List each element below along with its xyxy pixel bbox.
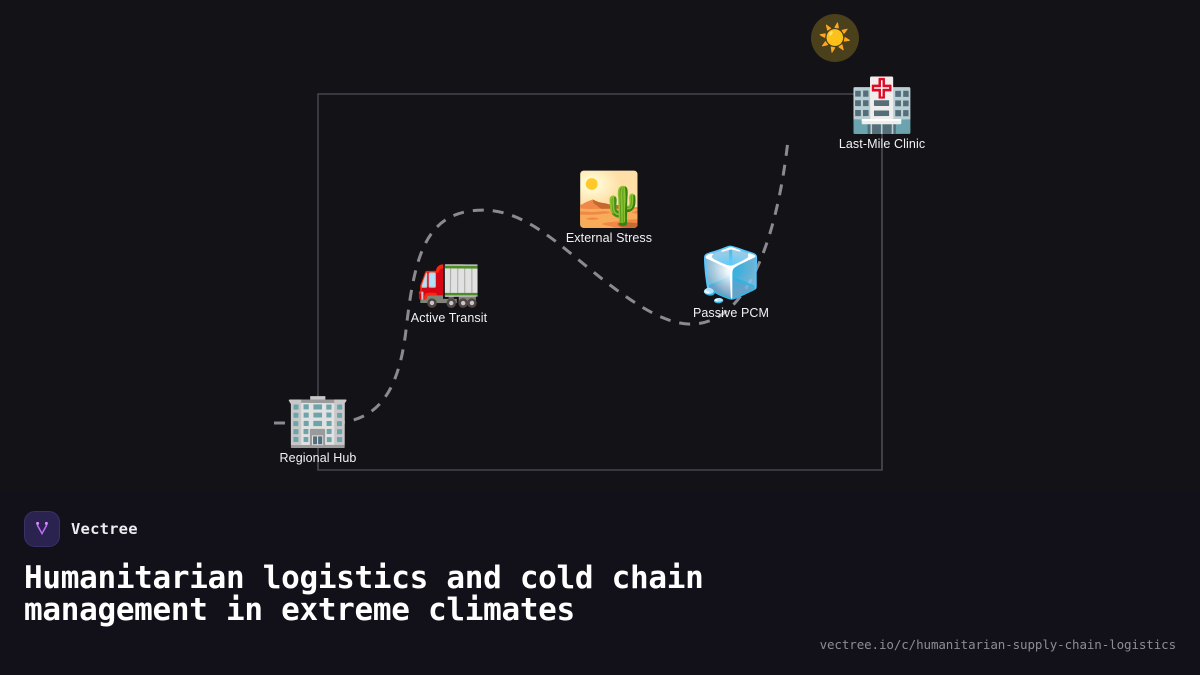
node-label-passive-pcm: Passive PCM <box>656 306 806 320</box>
brand-name: Vectree <box>71 520 138 538</box>
node-label-external-stress: External Stress <box>534 231 684 245</box>
node-label-last-mile-clinic: Last-Mile Clinic <box>807 137 957 151</box>
diagram-node-external-stress[interactable]: 🏜️ External Stress <box>534 174 684 245</box>
brand-row[interactable]: Vectree <box>24 512 1176 546</box>
lorry-icon: 🚛 <box>374 254 524 306</box>
node-label-active-transit: Active Transit <box>374 311 524 325</box>
source-url: vectree.io/c/humanitarian-supply-chain-l… <box>820 637 1176 652</box>
page-title: Humanitarian logistics and cold chain ma… <box>24 562 724 626</box>
card-footer: Vectree Humanitarian logistics and cold … <box>0 492 1200 675</box>
ambient-condition-badge[interactable]: ☀️ <box>811 14 859 62</box>
office-building-icon: 🏢 <box>243 394 393 446</box>
diagram-node-regional-hub[interactable]: 🏢 Regional Hub <box>243 394 393 465</box>
hospital-icon: 🏥 <box>807 80 957 132</box>
share-card: ☀️ 🏢 Regional Hub 🚛 Active Transit 🏜️ Ex… <box>0 0 1200 675</box>
node-label-regional-hub: Regional Hub <box>243 451 393 465</box>
diagram-vector-layer <box>0 0 1200 492</box>
diagram-node-last-mile-clinic[interactable]: 🏥 Last-Mile Clinic <box>807 80 957 151</box>
desert-icon: 🏜️ <box>534 174 684 226</box>
sun-icon: ☀️ <box>818 25 852 52</box>
diagram-canvas: ☀️ 🏢 Regional Hub 🚛 Active Transit 🏜️ Ex… <box>0 0 1200 492</box>
diagram-node-passive-pcm[interactable]: 🧊 Passive PCM <box>656 249 806 320</box>
vectree-logo-icon <box>24 511 60 547</box>
ice-cube-icon: 🧊 <box>656 249 806 301</box>
diagram-node-active-transit[interactable]: 🚛 Active Transit <box>374 254 524 325</box>
